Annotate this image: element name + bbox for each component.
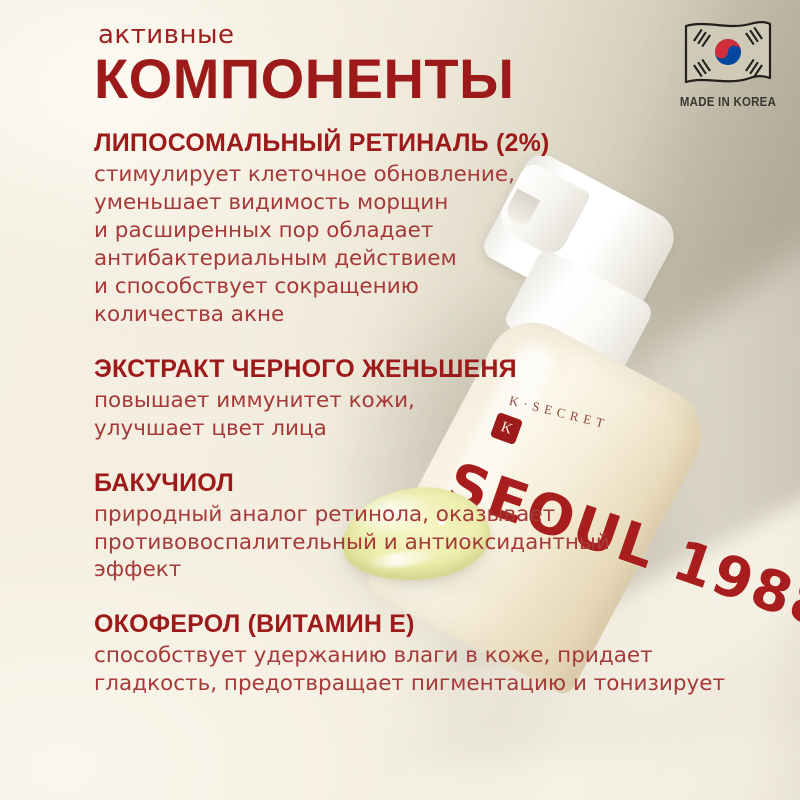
product-ingredients-poster: K·SECRET K SEOUL 1988 bbox=[0, 0, 800, 800]
ingredient-description: способствует удержанию влаги в коже, при… bbox=[94, 642, 754, 698]
ingredient-description: повышает иммунитет кожи, улучшает цвет л… bbox=[94, 387, 754, 443]
page-title: КОМПОНЕНТЫ bbox=[94, 50, 754, 107]
title-line: ЖЕНЬШЕНЯ bbox=[362, 355, 517, 383]
ingredient-section-bakuchiol: БАКУЧИОЛ природный аналог ретинола, оказ… bbox=[94, 469, 754, 585]
desc-line: улучшает цвет лица bbox=[94, 415, 754, 443]
desc-line: количества акне bbox=[94, 301, 754, 329]
ingredient-description: природный аналог ретинола, оказывает про… bbox=[94, 501, 754, 585]
desc-line: гладкость, предотвращает пигментацию и т… bbox=[94, 670, 754, 698]
eyebrow-text: активные bbox=[98, 22, 754, 48]
ingredient-title: ЛИПОСОМАЛЬНЫЙ РЕТИНАЛЬ (2%) bbox=[94, 129, 754, 157]
ingredient-section-retinal: ЛИПОСОМАЛЬНЫЙ РЕТИНАЛЬ (2%) стимулирует … bbox=[94, 129, 754, 329]
ingredient-section-ginseng: ЭКСТРАКТ ЧЕРНОГО ЖЕНЬШЕНЯ повышает иммун… bbox=[94, 355, 754, 443]
title-line: ЭКСТРАКТ ЧЕРНОГО bbox=[94, 355, 355, 383]
ingredient-description: стимулирует клеточное обновление, уменьш… bbox=[94, 161, 754, 329]
desc-line: повышает иммунитет кожи, bbox=[94, 387, 754, 415]
ingredient-title: ОКОФЕРОЛ (ВИТАМИН Е) bbox=[94, 610, 754, 638]
ingredient-title: ЭКСТРАКТ ЧЕРНОГО ЖЕНЬШЕНЯ bbox=[94, 355, 754, 383]
desc-line: стимулирует клеточное обновление, bbox=[94, 161, 754, 189]
ingredient-title: БАКУЧИОЛ bbox=[94, 469, 754, 497]
desc-line: антибактериальным действием bbox=[94, 245, 754, 273]
desc-line: и расширенных пор обладает bbox=[94, 217, 754, 245]
desc-line: противовоспалительный и антиоксидантный bbox=[94, 529, 754, 557]
desc-line: и способствует сокращению bbox=[94, 273, 754, 301]
desc-line: эффект bbox=[94, 556, 754, 584]
desc-line: уменьшает видимость морщин bbox=[94, 189, 754, 217]
desc-line: способствует удержанию влаги в коже, при… bbox=[94, 642, 754, 670]
poster-content: активные КОМПОНЕНТЫ ЛИПОСОМАЛЬНЫЙ РЕТИНА… bbox=[94, 22, 754, 718]
desc-line: природный аналог ретинола, оказывает bbox=[94, 501, 754, 529]
ingredient-section-tocopherol: ОКОФЕРОЛ (ВИТАМИН Е) способствует удержа… bbox=[94, 610, 754, 698]
